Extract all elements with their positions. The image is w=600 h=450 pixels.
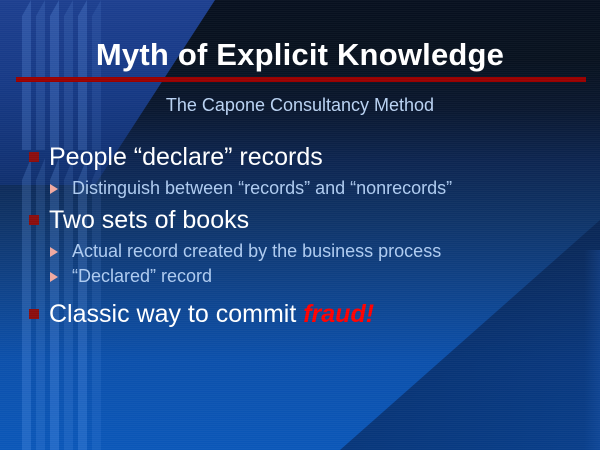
stripe-bar — [36, 0, 45, 150]
bullet-text: Classic way to commit — [49, 300, 303, 328]
bullet-level1-emphasis: Classic way to commit fraud! — [28, 298, 586, 330]
stripe-bar — [64, 0, 73, 150]
slide-subtitle: The Capone Consultancy Method — [0, 93, 600, 117]
stripe-bar — [50, 0, 59, 150]
bullet-level1: Two sets of books — [28, 204, 586, 236]
stripe-bar — [78, 0, 87, 150]
bullet-level2: Actual record created by the business pr… — [28, 239, 586, 264]
stripe-bar — [22, 0, 31, 150]
bottom-right-edge-highlight — [584, 250, 600, 450]
triangle-bullet-icon — [50, 272, 58, 282]
bullet-level2: Distinguish between “records” and “nonre… — [28, 176, 586, 201]
presentation-slide: Myth of Explicit Knowledge The Capone Co… — [0, 0, 600, 450]
triangle-bullet-icon — [50, 184, 58, 194]
bullet-text: Distinguish between “records” and “nonre… — [72, 178, 452, 198]
bullet-level2: “Declared” record — [28, 264, 586, 289]
slide-title: Myth of Explicit Knowledge — [0, 36, 600, 74]
bullet-level1: People “declare” records — [28, 141, 586, 173]
triangle-bullet-icon — [50, 247, 58, 257]
slide-body: People “declare” records Distinguish bet… — [28, 141, 586, 330]
square-bullet-icon — [29, 152, 39, 162]
bullet-text: People “declare” records — [49, 143, 323, 171]
square-bullet-icon — [29, 309, 39, 319]
title-divider-rule — [16, 77, 586, 82]
stripe-bar — [92, 0, 101, 150]
bullet-text: Two sets of books — [49, 206, 249, 234]
square-bullet-icon — [29, 215, 39, 225]
spacer — [28, 289, 586, 298]
bullet-text: Actual record created by the business pr… — [72, 241, 441, 261]
bullet-emphasis-text: fraud! — [303, 300, 374, 328]
bullet-text: “Declared” record — [72, 266, 212, 286]
left-stripe-group-top — [0, 0, 160, 150]
